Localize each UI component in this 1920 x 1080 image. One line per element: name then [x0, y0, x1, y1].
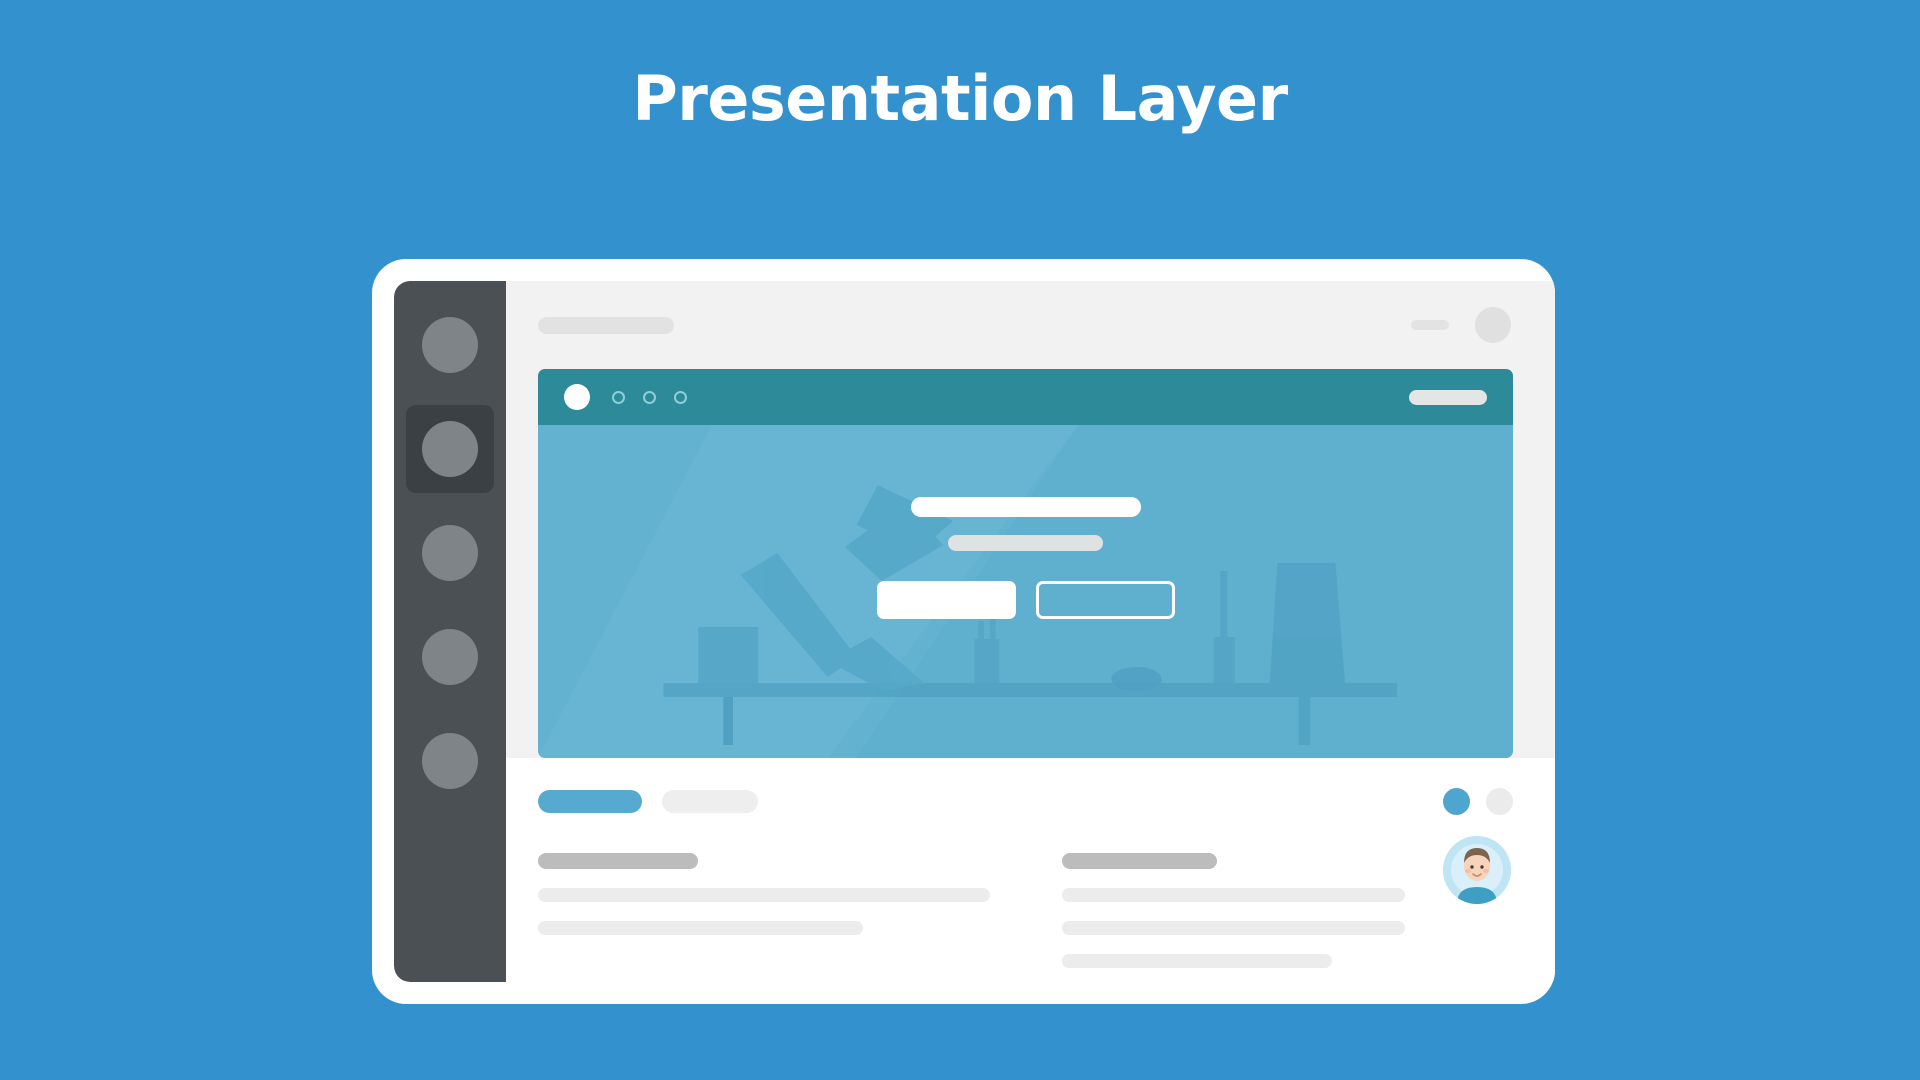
content-right-line-2 [1062, 921, 1405, 935]
browser-dot-outline-2-icon[interactable] [643, 391, 656, 404]
user-avatar[interactable] [1443, 836, 1511, 904]
sidebar-icon-3 [422, 525, 478, 581]
browser-dot-outline-1-icon[interactable] [612, 391, 625, 404]
browser-dots-group [612, 391, 687, 404]
content-left-line-2 [538, 921, 863, 935]
app-bar [506, 281, 1555, 369]
pagination-dots [1443, 788, 1513, 815]
sidebar-icon-5 [422, 733, 478, 789]
content-columns [538, 853, 1513, 968]
account-circle-icon[interactable] [1475, 307, 1511, 343]
browser-window-card [538, 369, 1513, 758]
content-right-line-3 [1062, 954, 1333, 968]
sidebar-item-5[interactable] [406, 717, 494, 805]
sidebar-icon-2 [422, 421, 478, 477]
app-sidebar [394, 281, 506, 982]
pager-dot-1[interactable] [1443, 788, 1470, 815]
content-column-left [538, 853, 990, 968]
hero-primary-button[interactable] [877, 581, 1016, 619]
hero-copy-block [538, 425, 1513, 758]
content-left-heading [538, 853, 698, 869]
sidebar-icon-4 [422, 629, 478, 685]
hero-subheadline-placeholder [948, 535, 1103, 551]
content-left-line-1 [538, 888, 990, 902]
hero-secondary-button[interactable] [1036, 581, 1175, 619]
avatar-illustration [1443, 836, 1511, 904]
content-right-line-1 [1062, 888, 1405, 902]
sidebar-item-1[interactable] [406, 301, 494, 389]
hero-headline-placeholder [911, 497, 1141, 517]
tablet-frame [372, 259, 1555, 1004]
app-bar-actions [1411, 307, 1511, 343]
app-main-area [506, 281, 1555, 982]
tab-active[interactable] [538, 790, 642, 813]
browser-address-pill[interactable] [1409, 390, 1487, 405]
content-panel [506, 758, 1555, 982]
page-title: Presentation Layer [0, 68, 1920, 130]
pager-dot-2[interactable] [1486, 788, 1513, 815]
content-right-heading [1062, 853, 1217, 869]
tab-inactive[interactable] [662, 790, 758, 813]
browser-dot-filled-icon[interactable] [564, 384, 590, 410]
browser-title-bar [538, 369, 1513, 425]
app-bar-title-placeholder [538, 317, 674, 334]
hero-button-group [877, 581, 1175, 619]
sidebar-item-2[interactable] [406, 405, 494, 493]
hero-banner [538, 425, 1513, 758]
sidebar-item-3[interactable] [406, 509, 494, 597]
browser-dot-outline-3-icon[interactable] [674, 391, 687, 404]
minimize-icon[interactable] [1411, 320, 1449, 330]
sidebar-icon-1 [422, 317, 478, 373]
tablet-screen [394, 281, 1555, 982]
tab-row [538, 788, 1513, 815]
sidebar-item-4[interactable] [406, 613, 494, 701]
